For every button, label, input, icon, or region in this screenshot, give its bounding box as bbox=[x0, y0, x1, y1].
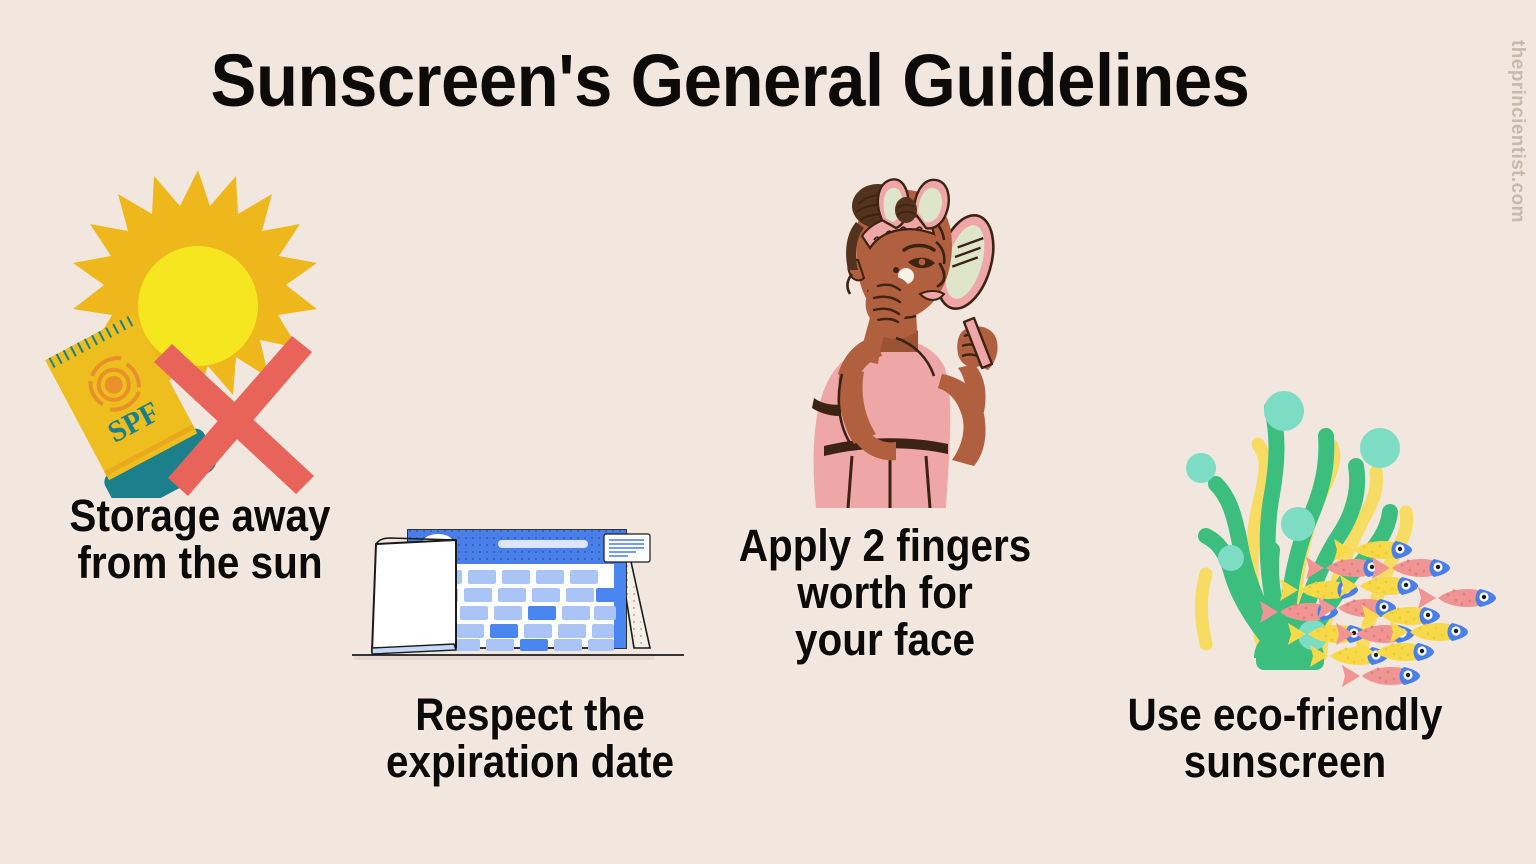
illustration-expiration-calendar bbox=[338, 508, 698, 668]
caption-apply-two-fingers: Apply 2 fingers worth for your face bbox=[732, 523, 1038, 663]
infographic-canvas: Sunscreen's General Guidelines theprinci… bbox=[0, 0, 1536, 864]
caption-use-eco-friendly-sunscreen: Use eco-friendly sunscreen bbox=[1123, 692, 1447, 786]
illustration-eco-friendly-reef bbox=[1148, 358, 1536, 688]
fish-icon bbox=[1342, 665, 1420, 687]
calendar-icon bbox=[352, 530, 684, 660]
caption-storage-away-from-sun: Storage away from the sun bbox=[38, 493, 362, 587]
woman-icon bbox=[812, 179, 1003, 508]
fish-icon bbox=[1418, 587, 1496, 609]
page-title: Sunscreen's General Guidelines bbox=[51, 44, 1409, 118]
caption-respect-expiration-date: Respect the expiration date bbox=[373, 692, 688, 786]
illustration-storage-away-from-sun: SPF bbox=[28, 158, 338, 498]
illustration-apply-two-fingers bbox=[778, 178, 1018, 508]
watermark-text: theprincientist.com bbox=[1506, 40, 1528, 223]
